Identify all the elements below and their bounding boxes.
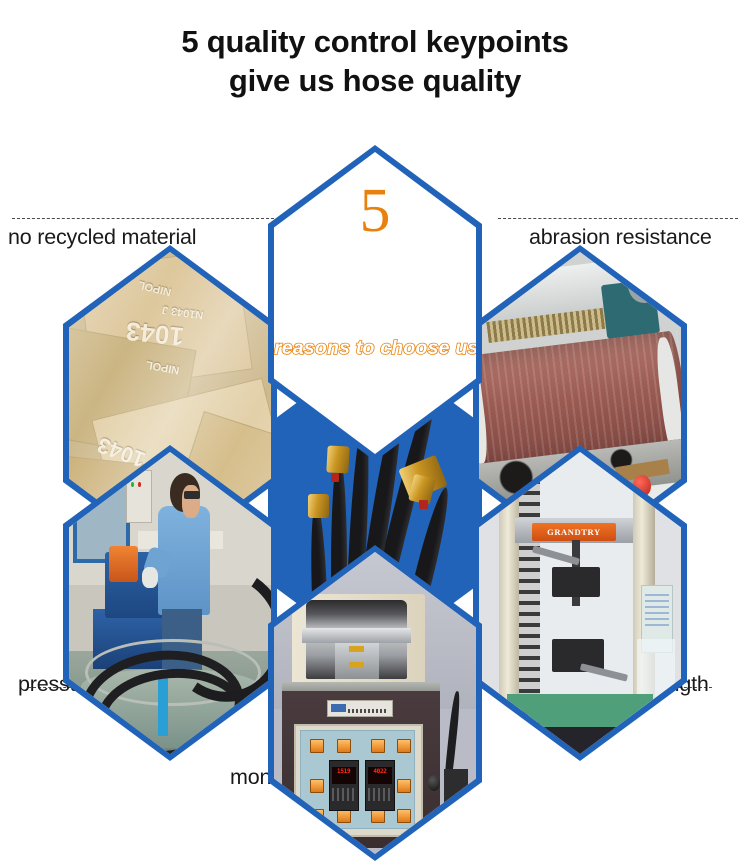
rheometer-display-left: 1519 xyxy=(329,760,359,810)
hexagon-inner: 1519 4022 xyxy=(274,552,476,854)
title-line-2: give us hose quality xyxy=(0,61,750,100)
rheometer-display-left-value: 1519 xyxy=(332,767,356,783)
photo-pressure-test-station xyxy=(69,452,271,754)
hexagon-inner: GRANDTRY xyxy=(479,452,681,754)
photo-tensile-testing-machine: GRANDTRY xyxy=(479,452,681,754)
grandtry-brand-text: GRANDTRY xyxy=(547,527,601,537)
label-no-recycled-material: no recycled material xyxy=(8,225,196,250)
label-abrasion-resistance: abrasion resistance xyxy=(529,225,712,250)
reasons-count: 5 xyxy=(274,180,476,242)
rheometer-nameplate xyxy=(327,700,394,717)
rheometer-display-right-value: 4022 xyxy=(368,767,392,783)
hexagon-inner: 5 reasons to choose us xyxy=(274,152,476,454)
dashed-line-top-left xyxy=(12,218,274,219)
page-title: 5 quality control keypoints give us hose… xyxy=(0,22,750,101)
rheometer-display-right: 4022 xyxy=(365,760,395,810)
hexagon-inner xyxy=(69,452,271,754)
dashed-line-top-right xyxy=(498,218,738,219)
photo-moving-die-rheometer: 1519 4022 xyxy=(274,552,476,854)
infographic-canvas: 5 quality control keypoints give us hose… xyxy=(0,0,750,800)
reasons-subtitle: reasons to choose us xyxy=(274,337,476,360)
title-line-1: 5 quality control keypoints xyxy=(181,24,568,59)
grandtry-brand-badge: GRANDTRY xyxy=(532,523,617,541)
